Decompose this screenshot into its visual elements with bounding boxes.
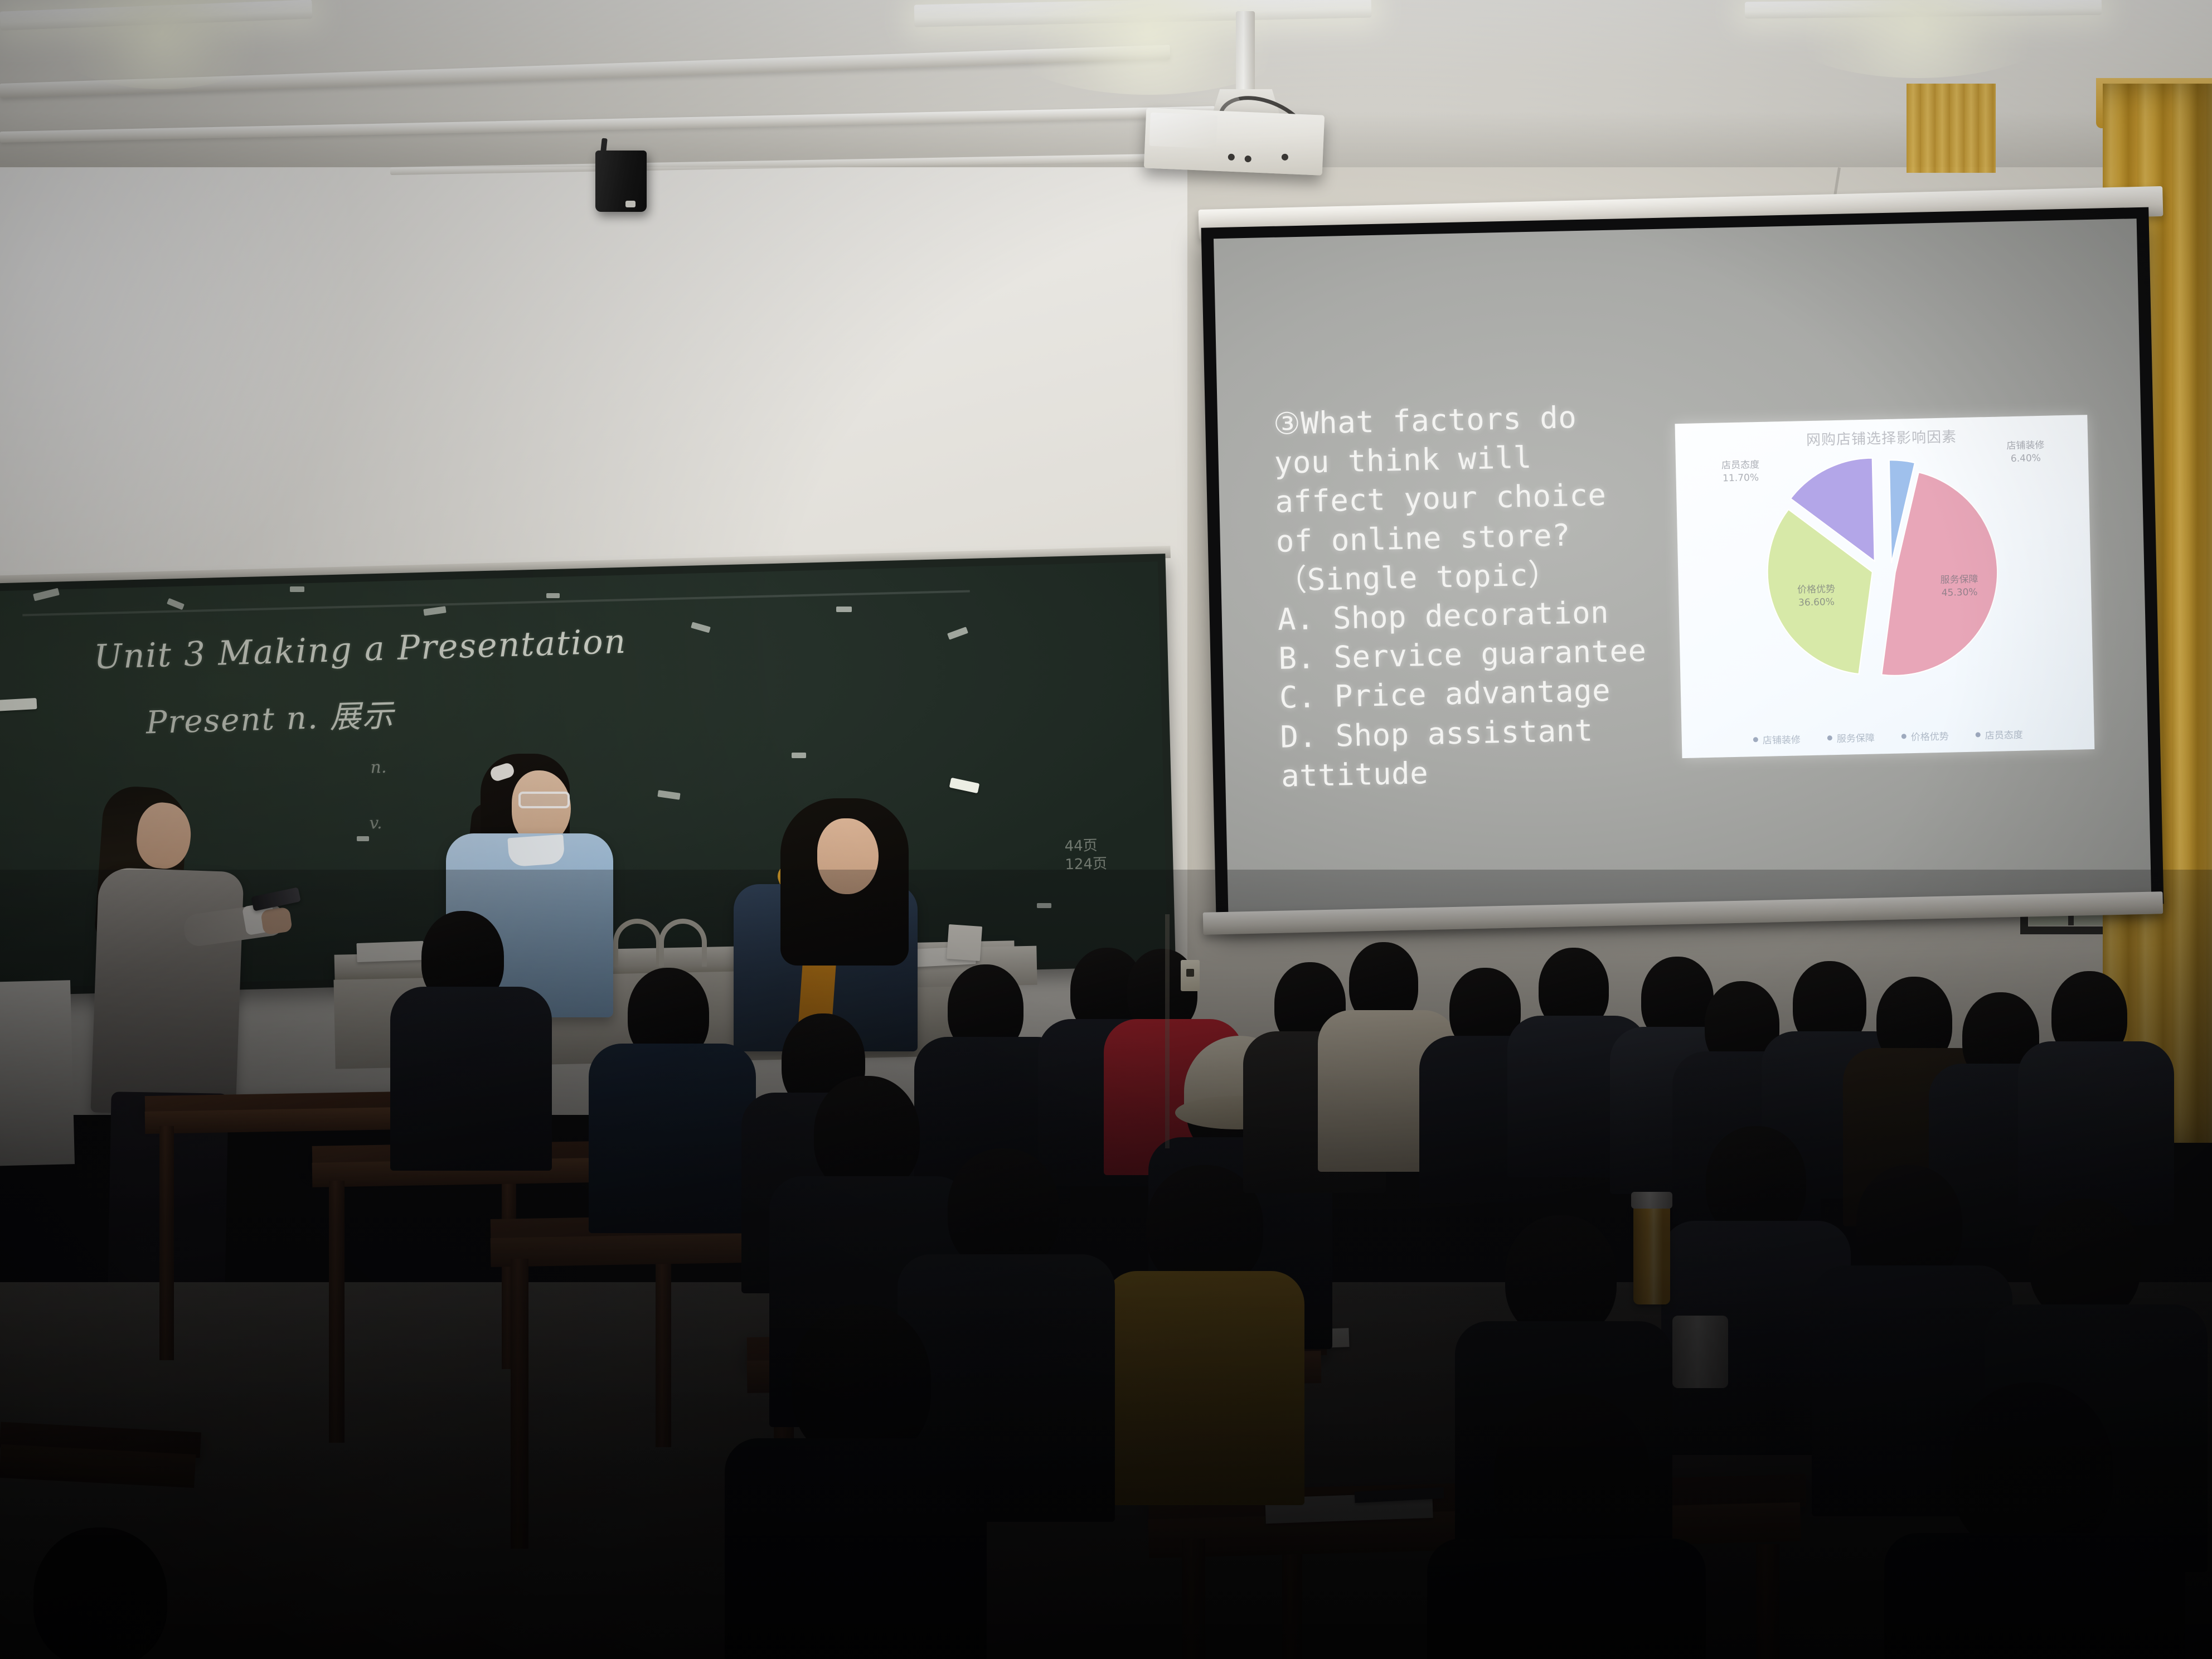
desk-leg (329, 1181, 345, 1443)
wall-panel (0, 980, 75, 1166)
wall-speaker-icon (595, 151, 647, 212)
chalk-stick[interactable] (0, 698, 37, 711)
legend-swatch-icon (1976, 732, 1981, 737)
legend-item: 服务保障 (1827, 730, 1875, 745)
slide-question-block: ③What factors do you think will affect y… (1273, 396, 1672, 796)
podium-paper[interactable] (356, 941, 424, 962)
slide-option-d-cont: attitude (1280, 748, 1671, 795)
legend-swatch-icon (1901, 734, 1907, 739)
projection-screen: ③What factors do you think will affect y… (1201, 207, 2164, 925)
faucet-arc (659, 919, 707, 967)
pie-chart-svg (1762, 445, 2007, 690)
student-torso (2018, 1041, 2174, 1225)
student-torso-front (1884, 1533, 2185, 1659)
student-head (1505, 1215, 1617, 1338)
faucet-arc (613, 919, 661, 967)
student-head (948, 1148, 1059, 1271)
desk-leg (511, 1259, 528, 1549)
blackboard-annotation: n. (370, 758, 387, 778)
pie-label-shop-assistant-attitude: 店员态度 11.70% (1690, 458, 1791, 486)
student-head (1856, 1165, 1962, 1282)
student-torso-front (725, 1438, 987, 1659)
pie-label-shop-decoration: 店铺装修 6.40% (1975, 439, 2076, 467)
desk-leg (1182, 1539, 1205, 1659)
student-torso-front (1427, 1539, 1706, 1659)
curtain-far (1907, 84, 1996, 173)
blackboard-right-note-line-1: 44页 (1064, 835, 1176, 856)
legend-item: 店铺装修 (1753, 731, 1801, 746)
chalk-dust (290, 586, 304, 592)
legend-swatch-icon (1827, 735, 1832, 740)
teacher-hand (260, 907, 293, 935)
thermos-bottle[interactable] (1672, 1316, 1728, 1388)
student-head (2029, 1199, 2141, 1321)
blackboard-right-note-line-2: 124页 (1065, 853, 1177, 874)
legend-item: 店员态度 (1975, 727, 2023, 742)
glasses-icon (518, 792, 570, 808)
chalk-dust (836, 607, 852, 612)
chalk-dust (792, 753, 806, 758)
student-yellow-coat (1104, 1271, 1304, 1505)
projector-pole (1236, 11, 1255, 100)
blackboard-writing: Unit 3 Making a Presentation Present n. … (93, 622, 629, 744)
chart-legend: 店铺装修 服务保障 价格优势 店员态度 (1682, 725, 2094, 748)
student-head-front (33, 1527, 167, 1659)
classroom-photo: ③What factors do you think will affect y… (0, 0, 2212, 1659)
student-head-front (1951, 1382, 2113, 1555)
student-torso (589, 1044, 756, 1233)
podium-box[interactable] (947, 924, 982, 961)
student-head-front (1494, 1394, 1650, 1561)
pie-chart-card: 网购店铺选择影响因素 (1675, 415, 2094, 758)
projector-icon (1144, 108, 1325, 175)
wall-seam (1165, 914, 1170, 1148)
desk-leg (1756, 1544, 1779, 1659)
student-head-front (792, 1304, 931, 1461)
teacher-cardigan (90, 867, 244, 1118)
legend-swatch-icon (1753, 737, 1758, 742)
chalk-dust (357, 836, 369, 841)
outlet-slot (1186, 969, 1194, 977)
pie-label-price-advantage: 价格优势 36.60% (1774, 583, 1859, 610)
pie-chart (1762, 445, 2007, 690)
desk-leg (159, 1126, 174, 1360)
pie-label-service-guarantee: 服务保障 45.30% (1914, 573, 2004, 600)
screen-surface: ③What factors do you think will affect y… (1214, 219, 2151, 913)
blackboard-right-note: 44页 124页 (1064, 835, 1177, 874)
student-torso (390, 987, 552, 1171)
presenter-b-face (817, 818, 879, 894)
thermos-cap[interactable] (1631, 1192, 1672, 1209)
chalk-dust (1037, 903, 1051, 908)
thermos-bottle[interactable] (1633, 1204, 1670, 1304)
slide-options-block: A. Shop decoration B. Service guarantee … (1277, 592, 1671, 796)
chalk-dust (546, 593, 560, 598)
legend-item: 价格优势 (1901, 729, 1949, 744)
blackboard-annotation-2: v. (369, 813, 382, 833)
student-head (814, 1076, 920, 1193)
